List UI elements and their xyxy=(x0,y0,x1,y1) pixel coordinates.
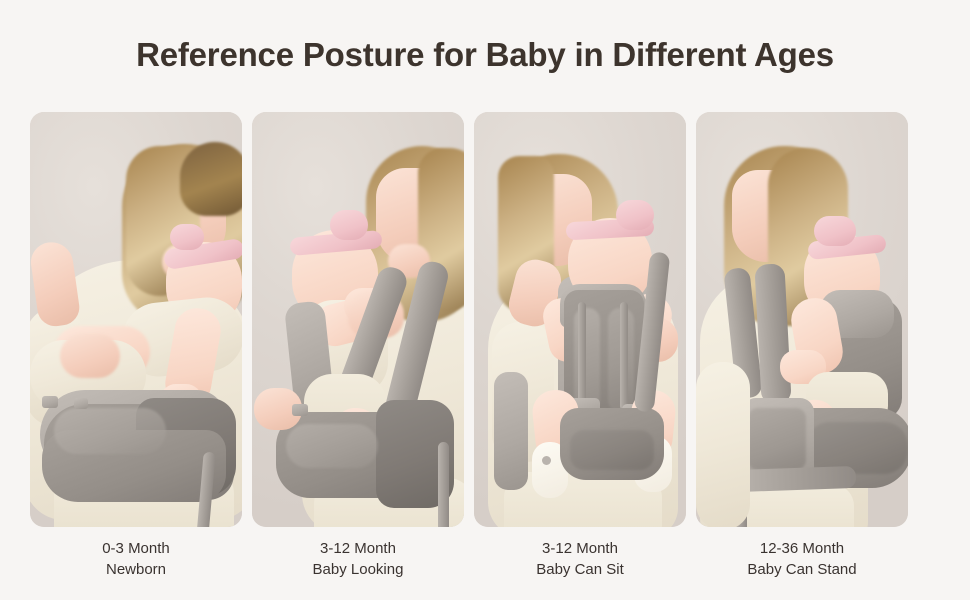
panel-baby-can-stand[interactable] xyxy=(696,112,908,527)
photo-baby-looking xyxy=(252,112,464,527)
panel-newborn[interactable] xyxy=(30,112,242,527)
caption-age: 0-3 Month xyxy=(30,538,242,559)
caption-posture: Baby Looking xyxy=(252,559,464,580)
caption-posture: Baby Can Stand xyxy=(696,559,908,580)
caption-posture: Newborn xyxy=(30,559,242,580)
photo-newborn xyxy=(30,112,242,527)
panel-baby-can-sit[interactable] xyxy=(474,112,686,527)
panel-baby-looking[interactable] xyxy=(252,112,464,527)
infographic-page: Reference Posture for Baby in Different … xyxy=(0,0,970,600)
caption-baby-can-sit: 3-12 Month Baby Can Sit xyxy=(474,538,686,588)
caption-age: 3-12 Month xyxy=(252,538,464,559)
caption-baby-can-stand: 12-36 Month Baby Can Stand xyxy=(696,538,908,588)
photo-baby-can-sit xyxy=(474,112,686,527)
panel-row xyxy=(30,112,942,527)
caption-posture: Baby Can Sit xyxy=(474,559,686,580)
page-title: Reference Posture for Baby in Different … xyxy=(0,36,970,74)
caption-newborn: 0-3 Month Newborn xyxy=(30,538,242,588)
caption-age: 12-36 Month xyxy=(696,538,908,559)
caption-row: 0-3 Month Newborn 3-12 Month Baby Lookin… xyxy=(30,538,942,588)
photo-baby-can-stand xyxy=(696,112,908,527)
caption-baby-looking: 3-12 Month Baby Looking xyxy=(252,538,464,588)
caption-age: 3-12 Month xyxy=(474,538,686,559)
